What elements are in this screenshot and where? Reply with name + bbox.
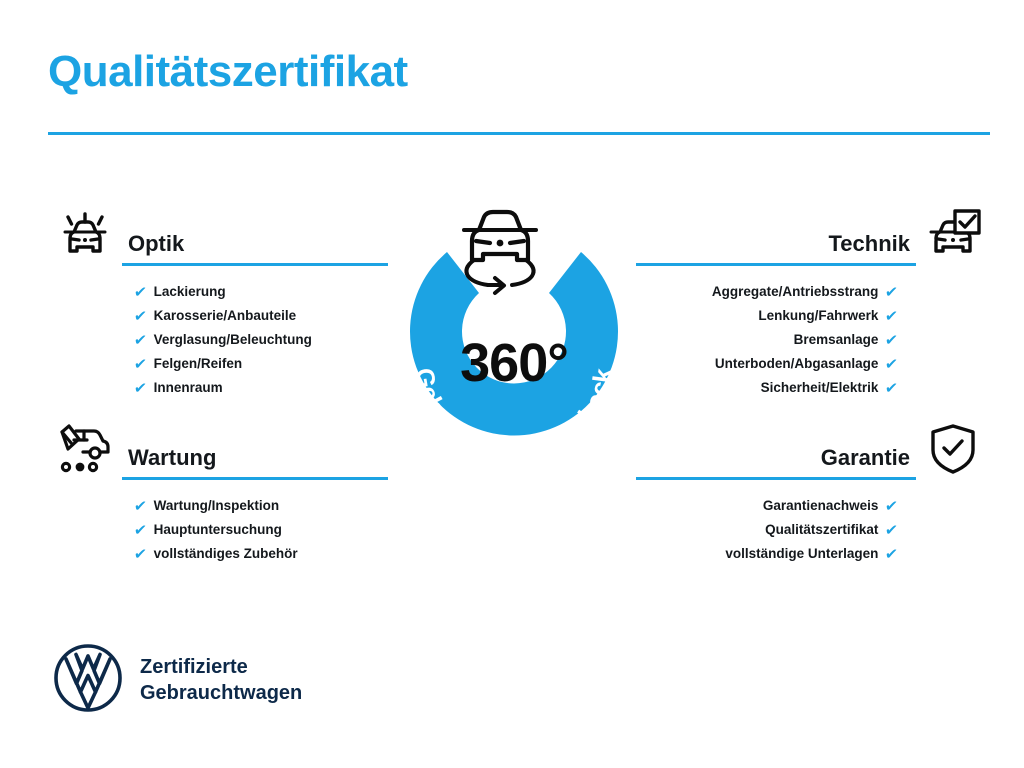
section-wartung-header: Wartung xyxy=(48,418,388,480)
list-item-label: Unterboden/Abgasanlage xyxy=(715,357,879,371)
list-item-label: Hauptuntersuchung xyxy=(154,523,282,537)
section-wartung-underline xyxy=(122,477,388,480)
check-icon: ✔ xyxy=(133,547,147,562)
check-icon: ✔ xyxy=(133,357,147,372)
list-item-label: Lenkung/Fahrwerk xyxy=(758,309,878,323)
check-icon: ✔ xyxy=(133,499,147,514)
list-item-label: Aggregate/Antriebsstrang xyxy=(712,285,879,299)
section-optik-list: ✔Lackierung ✔Karosserie/Anbauteile ✔Verg… xyxy=(48,280,388,400)
list-item: ✔Felgen/Reifen xyxy=(134,352,388,376)
footer-line-1: Zertifizierte xyxy=(140,655,302,681)
badge-number: 360° xyxy=(378,332,650,394)
section-optik-header: Optik xyxy=(48,204,388,266)
check-icon: ✔ xyxy=(885,357,899,372)
list-item: Qualitätszertifikat✔ xyxy=(636,518,898,542)
section-wartung-title: Wartung xyxy=(122,446,388,477)
section-garantie: Garantie Garantienachweis✔ Qualitätszert… xyxy=(636,418,990,566)
list-item-label: Lackierung xyxy=(154,285,226,299)
list-item: ✔Verglasung/Beleuchtung xyxy=(134,328,388,352)
car-shine-icon xyxy=(48,204,122,266)
list-item-label: Verglasung/Beleuchtung xyxy=(154,333,312,347)
check-icon: ✔ xyxy=(885,499,899,514)
section-technik-header: Technik xyxy=(636,204,990,266)
car-checkbox-icon xyxy=(916,204,990,266)
section-garantie-underline xyxy=(636,477,916,480)
footer-line-2: Gebrauchtwagen xyxy=(140,681,302,707)
section-technik: Technik Aggregate/Antriebsstrang✔ Lenkun… xyxy=(636,204,990,400)
list-item-label: Karosserie/Anbauteile xyxy=(154,309,297,323)
shield-check-icon xyxy=(916,418,990,480)
list-item-label: vollständiges Zubehör xyxy=(154,547,298,561)
section-technik-title: Technik xyxy=(636,232,916,263)
pencil-car-service-icon xyxy=(48,418,122,480)
section-optik-title: Optik xyxy=(122,232,388,263)
list-item: ✔Karosserie/Anbauteile xyxy=(134,304,388,328)
list-item: ✔Hauptuntersuchung xyxy=(134,518,388,542)
list-item: Unterboden/Abgasanlage✔ xyxy=(636,352,898,376)
list-item-label: Innenraum xyxy=(154,381,223,395)
section-technik-underline xyxy=(636,263,916,266)
list-item: vollständige Unterlagen✔ xyxy=(636,542,898,566)
list-item-label: Felgen/Reifen xyxy=(154,357,243,371)
check-icon: ✔ xyxy=(885,309,899,324)
header-divider xyxy=(48,132,990,135)
section-garantie-header: Garantie xyxy=(636,418,990,480)
list-item: Garantienachweis✔ xyxy=(636,494,898,518)
section-garantie-list: Garantienachweis✔ Qualitätszertifikat✔ v… xyxy=(636,494,990,566)
list-item: ✔vollständiges Zubehör xyxy=(134,542,388,566)
list-item-label: Bremsanlage xyxy=(794,333,879,347)
footer-brand-text: Zertifizierte Gebrauchtwagen xyxy=(140,655,302,706)
section-wartung-list: ✔Wartung/Inspektion ✔Hauptuntersuchung ✔… xyxy=(48,494,388,566)
section-optik-underline xyxy=(122,263,388,266)
section-garantie-title: Garantie xyxy=(636,446,916,477)
check-icon: ✔ xyxy=(133,333,147,348)
badge-360-gebrauchtwagen-check: Gebrauchtwagen-Check 360° xyxy=(378,196,650,486)
check-icon: ✔ xyxy=(133,285,147,300)
section-technik-list: Aggregate/Antriebsstrang✔ Lenkung/Fahrwe… xyxy=(636,280,990,400)
list-item: Bremsanlage✔ xyxy=(636,328,898,352)
check-icon: ✔ xyxy=(885,381,899,396)
page-title: Qualitätszertifikat xyxy=(48,48,408,96)
list-item-label: Wartung/Inspektion xyxy=(154,499,280,513)
list-item: Lenkung/Fahrwerk✔ xyxy=(636,304,898,328)
list-item: Sicherheit/Elektrik✔ xyxy=(636,376,898,400)
section-optik: Optik ✔Lackierung ✔Karosserie/Anbauteile… xyxy=(48,204,388,400)
check-icon: ✔ xyxy=(885,333,899,348)
check-icon: ✔ xyxy=(885,547,899,562)
list-item: ✔Innenraum xyxy=(134,376,388,400)
list-item-label: vollständige Unterlagen xyxy=(725,547,878,561)
vw-logo-icon xyxy=(52,642,124,719)
list-item: Aggregate/Antriebsstrang✔ xyxy=(636,280,898,304)
car-rotate-360-icon xyxy=(464,212,536,293)
list-item-label: Garantienachweis xyxy=(763,499,879,513)
check-icon: ✔ xyxy=(885,523,899,538)
check-icon: ✔ xyxy=(885,285,899,300)
check-icon: ✔ xyxy=(133,523,147,538)
list-item-label: Sicherheit/Elektrik xyxy=(761,381,879,395)
check-icon: ✔ xyxy=(133,309,147,324)
list-item: ✔Wartung/Inspektion xyxy=(134,494,388,518)
section-wartung: Wartung ✔Wartung/Inspektion ✔Hauptunters… xyxy=(48,418,388,566)
check-icon: ✔ xyxy=(133,381,147,396)
footer-brand: Zertifizierte Gebrauchtwagen xyxy=(52,642,302,719)
list-item: ✔Lackierung xyxy=(134,280,388,304)
list-item-label: Qualitätszertifikat xyxy=(765,523,878,537)
